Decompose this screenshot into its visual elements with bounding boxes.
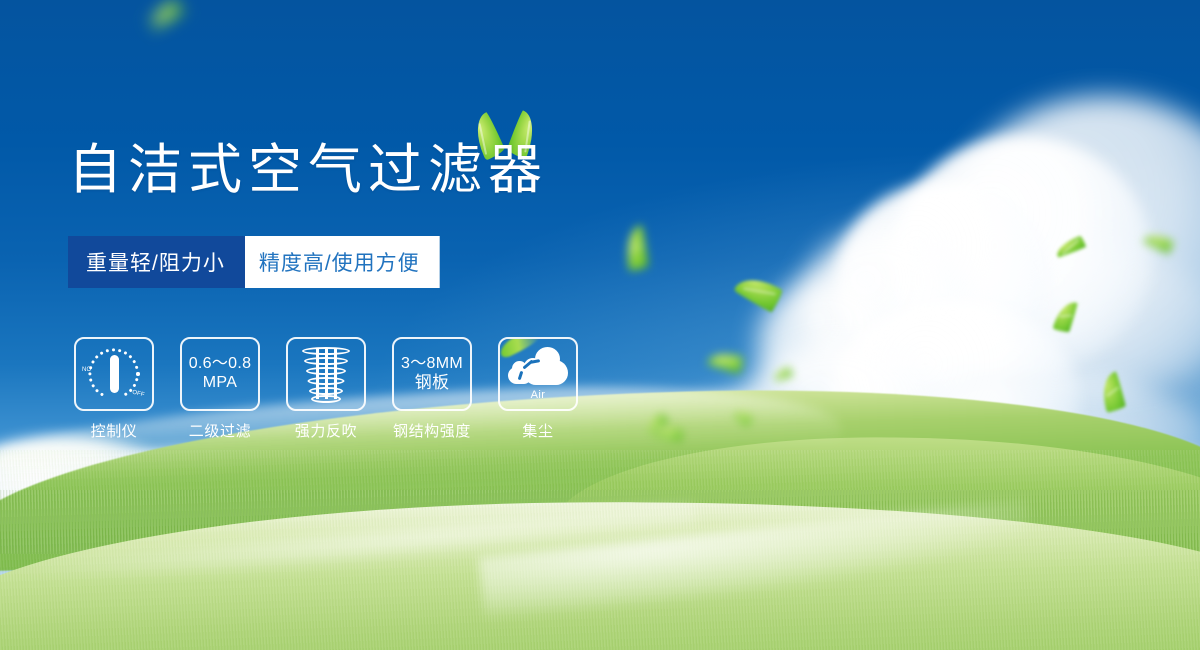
steel-thickness: 3〜8MM xyxy=(401,355,463,374)
gauge-icon: NO OFF xyxy=(85,346,143,402)
feature-list: NO OFF 控制仪 0.6〜0.8 MPA 二级过滤 xyxy=(74,337,578,441)
feature-label: 强力反吹 xyxy=(295,420,357,441)
subtitle-right-segment: 精度高/使用方便 xyxy=(229,236,440,288)
cloud-air-icon xyxy=(508,347,568,387)
feature-item-controller[interactable]: NO OFF 控制仪 xyxy=(74,337,154,441)
feature-item-blowback[interactable]: 强力反吹 xyxy=(286,337,366,441)
feature-label: 钢结构强度 xyxy=(393,420,471,441)
gauge-off-label: OFF xyxy=(132,390,146,399)
feature-label: 集尘 xyxy=(522,420,553,441)
feature-item-secondary-filter[interactable]: 0.6〜0.8 MPA 二级过滤 xyxy=(180,337,260,441)
pressure-unit: MPA xyxy=(203,374,237,393)
coil-box xyxy=(286,337,366,411)
pressure-value: 0.6〜0.8 xyxy=(189,355,252,374)
pressure-text-icon: 0.6〜0.8 MPA xyxy=(180,337,260,411)
feature-item-dust-collection[interactable]: Air 集尘 xyxy=(498,337,578,441)
feature-item-steel-strength[interactable]: 3〜8MM 钢板 钢结构强度 xyxy=(392,337,472,441)
steel-material: 钢板 xyxy=(415,373,450,393)
promo-banner: 自洁式空气过滤器 重量轻/阻力小 精度高/使用方便 xyxy=(0,0,1200,650)
feature-label: 二级过滤 xyxy=(189,420,251,441)
grass-field xyxy=(0,420,1200,650)
coil-blowback-icon xyxy=(300,345,352,403)
gauge-box: NO OFF xyxy=(74,337,154,411)
cloud-box: Air xyxy=(498,337,578,411)
gauge-needle xyxy=(110,355,119,393)
gauge-on-label: NO xyxy=(82,367,91,373)
feature-label: 控制仪 xyxy=(91,420,138,441)
subtitle-left-segment: 重量轻/阻力小 xyxy=(68,236,245,288)
subtitle-strip: 重量轻/阻力小 精度高/使用方便 xyxy=(68,236,440,288)
steel-plate-text-icon: 3〜8MM 钢板 xyxy=(392,337,472,411)
air-label: Air xyxy=(531,389,546,401)
page-title: 自洁式空气过滤器 xyxy=(68,143,548,197)
